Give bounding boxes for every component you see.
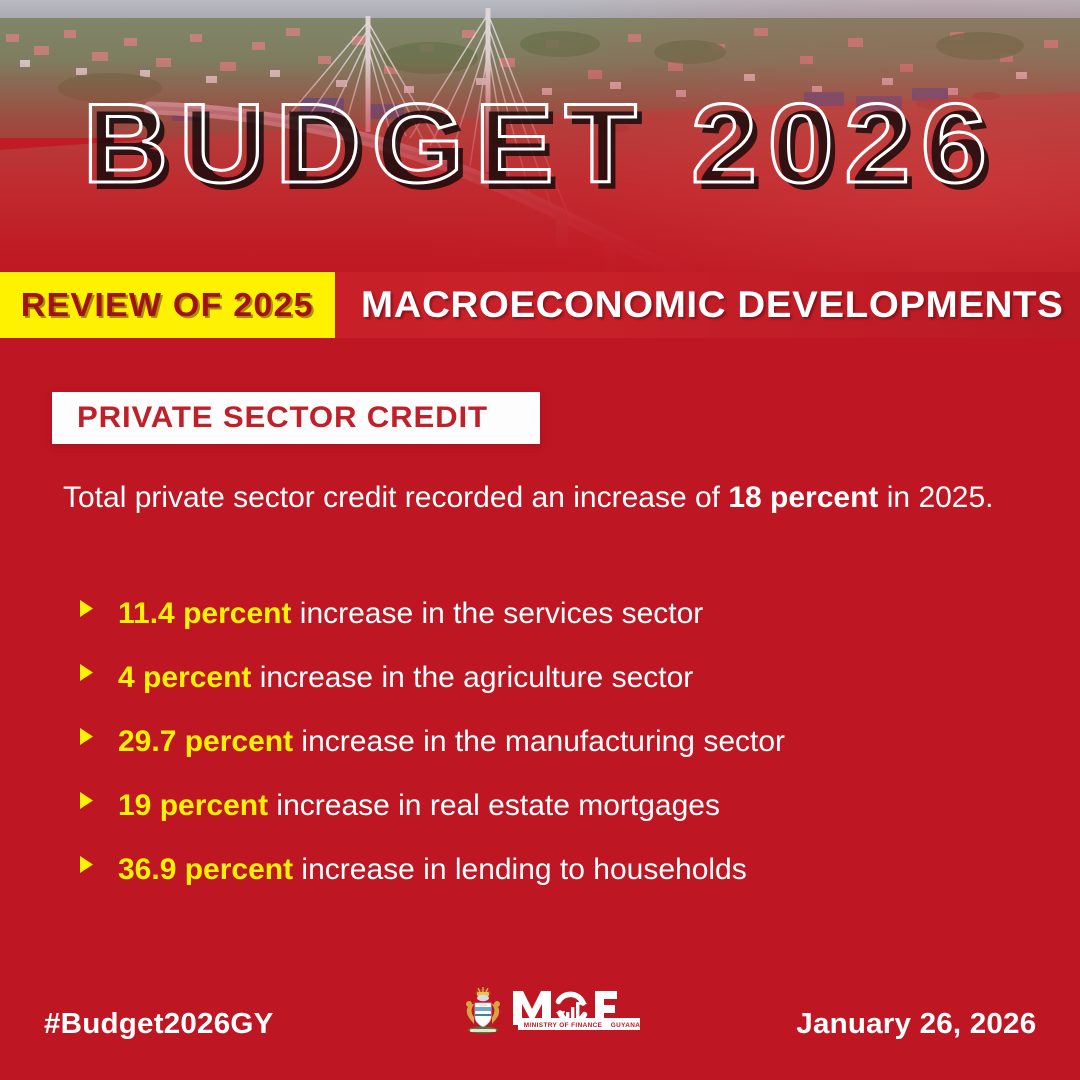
- banner-heading-area: MACROECONOMIC DEVELOPMENTS: [335, 272, 1080, 338]
- list-item: 19 percent increase in real estate mortg…: [78, 788, 1038, 852]
- guyana-coat-of-arms-icon: [461, 986, 505, 1036]
- list-item-rest: increase in real estate mortgages: [268, 789, 720, 822]
- section-title: PRIVATE SECTOR CREDIT: [52, 401, 488, 435]
- list-item: 36.9 percent increase in lending to hous…: [78, 852, 1038, 916]
- list-item-highlight: 19 percent: [118, 789, 268, 822]
- review-year-label: REVIEW OF 2025: [21, 286, 314, 324]
- list-item-rest: increase in the services sector: [291, 597, 703, 630]
- bullet-list: 11.4 percent increase in the services se…: [78, 596, 1038, 916]
- section-title-chip: PRIVATE SECTOR CREDIT: [52, 392, 540, 444]
- intro-text-part2: in 2025.: [878, 481, 993, 514]
- triangle-right-icon: [78, 855, 118, 874]
- list-item: 11.4 percent increase in the services se…: [78, 596, 1038, 660]
- review-year-chip: REVIEW OF 2025: [0, 272, 335, 338]
- hashtag: #Budget2026GY: [44, 1008, 274, 1041]
- list-item: 29.7 percent increase in the manufacturi…: [78, 724, 1038, 788]
- list-item-text: 11.4 percent increase in the services se…: [118, 596, 703, 632]
- list-item-rest: increase in the agriculture sector: [251, 661, 693, 694]
- list-item-rest: increase in the manufacturing sector: [293, 725, 785, 758]
- footer: #Budget2026GY: [0, 968, 1080, 1080]
- list-item-highlight: 36.9 percent: [118, 853, 293, 886]
- list-item-highlight: 11.4 percent: [118, 597, 291, 630]
- triangle-right-icon: [78, 663, 118, 682]
- list-item-highlight: 4 percent: [118, 661, 251, 694]
- intro-paragraph: Total private sector credit recorded an …: [63, 476, 1008, 519]
- infographic-poster: BUDGET 2026 REVIEW OF 2025 MACROECONOMIC…: [0, 0, 1080, 1080]
- banner: REVIEW OF 2025 MACROECONOMIC DEVELOPMENT…: [0, 272, 1080, 338]
- svg-text:GUYANA: GUYANA: [611, 1022, 640, 1029]
- list-item-highlight: 29.7 percent: [118, 725, 293, 758]
- publication-date: January 26, 2026: [796, 1008, 1036, 1041]
- intro-text-part1: Total private sector credit recorded an …: [63, 481, 728, 514]
- list-item-rest: increase in lending to households: [293, 853, 747, 886]
- list-item-text: 36.9 percent increase in lending to hous…: [118, 852, 747, 888]
- banner-heading: MACROECONOMIC DEVELOPMENTS: [361, 284, 1063, 326]
- mof-tagline: MINISTRY OF FINANCE GUYANA: [518, 1018, 640, 1030]
- list-item: 4 percent increase in the agriculture se…: [78, 660, 1038, 724]
- triangle-right-icon: [78, 599, 118, 618]
- intro-highlight: 18 percent: [728, 481, 878, 514]
- triangle-right-icon: [78, 791, 118, 810]
- triangle-right-icon: [78, 727, 118, 746]
- svg-text:MINISTRY OF FINANCE: MINISTRY OF FINANCE: [524, 1022, 603, 1029]
- list-item-text: 29.7 percent increase in the manufacturi…: [118, 724, 785, 760]
- poster-title: BUDGET 2026: [0, 88, 1080, 200]
- list-item-text: 19 percent increase in real estate mortg…: [118, 788, 720, 824]
- list-item-text: 4 percent increase in the agriculture se…: [118, 660, 693, 696]
